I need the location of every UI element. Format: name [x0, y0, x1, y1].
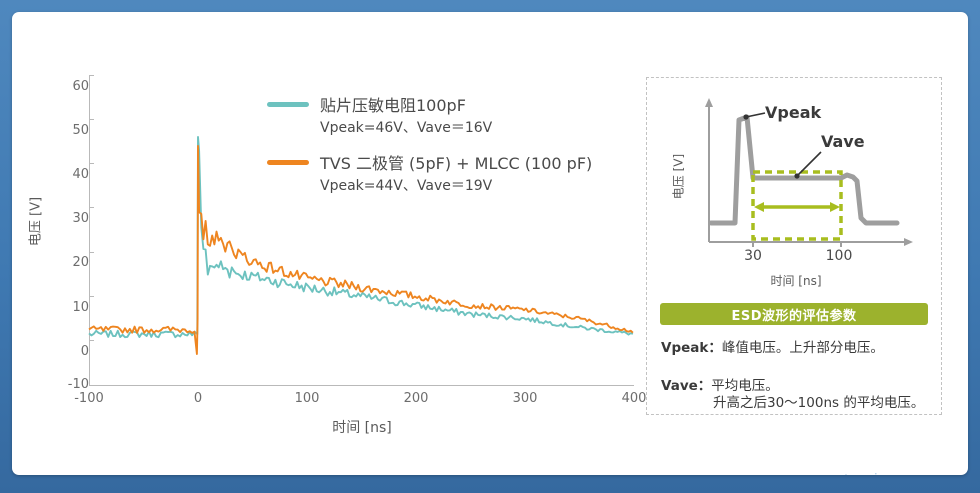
esd-params-banner-label: ESD波形的评估参数 — [731, 305, 856, 324]
main-chart: 60 50 40 30 20 10 0 -10 -100 0 100 200 3… — [12, 12, 652, 475]
inset-label-vave: Vave — [821, 132, 865, 151]
content-panel: 60 50 40 30 20 10 0 -10 -100 0 100 200 3… — [12, 12, 968, 475]
esd-waveform-diagram: 电压 [V] 时间 [ns] 30 100 Vpeak Vave — [661, 90, 929, 295]
definition-vpeak: Vpeak：峰值电压。上升部分电压。 — [661, 340, 937, 357]
inset-tick-30: 30 — [733, 248, 773, 264]
explanation-panel: 电压 [V] 时间 [ns] 30 100 Vpeak Vave ESD波形的评… — [646, 77, 942, 415]
legend-item-1: TVS 二极管 (5pF) + MLCC (100 pF) Vpeak=44V、… — [267, 150, 627, 195]
legend-label-0: 贴片压敏电阻100pF — [320, 92, 466, 116]
legend-swatch-teal — [267, 102, 309, 107]
definition-vave-desc: 平均电压。 — [711, 378, 779, 394]
outer-frame: 60 50 40 30 20 10 0 -10 -100 0 100 200 3… — [0, 0, 980, 493]
waveform-plot — [12, 12, 652, 475]
inset-label-vpeak: Vpeak — [765, 103, 821, 122]
legend-sub-1: Vpeak=44V、Vave＝19V — [320, 175, 627, 195]
definition-vave: Vave：平均电压。 升高之后30～100ns 的平均电压。 — [661, 378, 937, 412]
legend-sub-0: Vpeak=46V、Vave＝16V — [320, 117, 627, 137]
chart-legend: 贴片压敏电阻100pF Vpeak=46V、Vave＝16V TVS 二极管 (… — [267, 92, 627, 208]
inset-tick-100: 100 — [819, 248, 859, 264]
site-watermark: www.cntronics.com — [784, 470, 933, 475]
inset-x-axis-title: 时间 [ns] — [721, 272, 871, 289]
esd-params-banner: ESD波形的评估参数 — [660, 303, 928, 325]
definition-vpeak-term: Vpeak： — [661, 340, 722, 356]
definition-vave-term: Vave： — [661, 378, 711, 394]
legend-item-0: 贴片压敏电阻100pF Vpeak=46V、Vave＝16V — [267, 92, 627, 137]
definition-vpeak-desc: 峰值电压。上升部分电压。 — [722, 340, 884, 356]
definition-vave-desc2: 升高之后30～100ns 的平均电压。 — [713, 395, 937, 412]
legend-label-1: TVS 二极管 (5pF) + MLCC (100 pF) — [320, 150, 592, 174]
legend-swatch-orange — [267, 160, 309, 165]
inset-y-axis-title: 电压 [V] — [670, 146, 687, 208]
